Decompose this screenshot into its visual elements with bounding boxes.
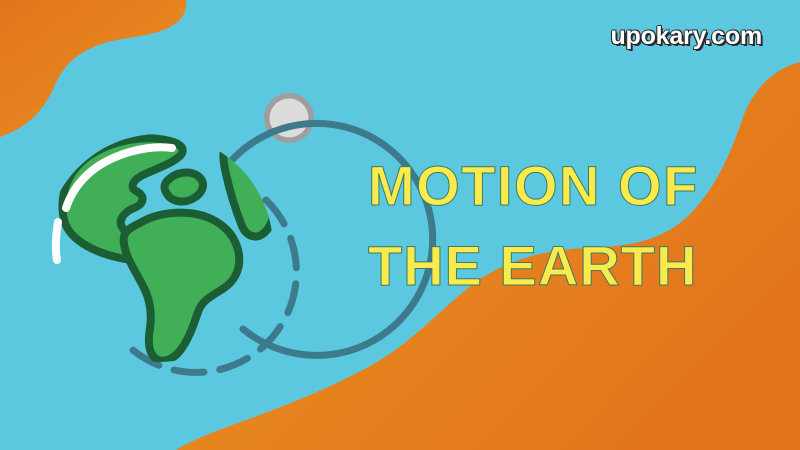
poster-title-line-1: MOTION OF bbox=[368, 146, 708, 226]
site-watermark: upokary.com bbox=[610, 22, 762, 51]
land-greenland bbox=[164, 173, 202, 202]
poster-title: MOTION OF THE EARTH bbox=[368, 146, 708, 306]
globe-highlight-short bbox=[56, 222, 58, 260]
poster-title-line-2: THE EARTH bbox=[368, 226, 708, 306]
poster-canvas: upokary.com MOTION OF THE EARTH bbox=[0, 0, 800, 450]
